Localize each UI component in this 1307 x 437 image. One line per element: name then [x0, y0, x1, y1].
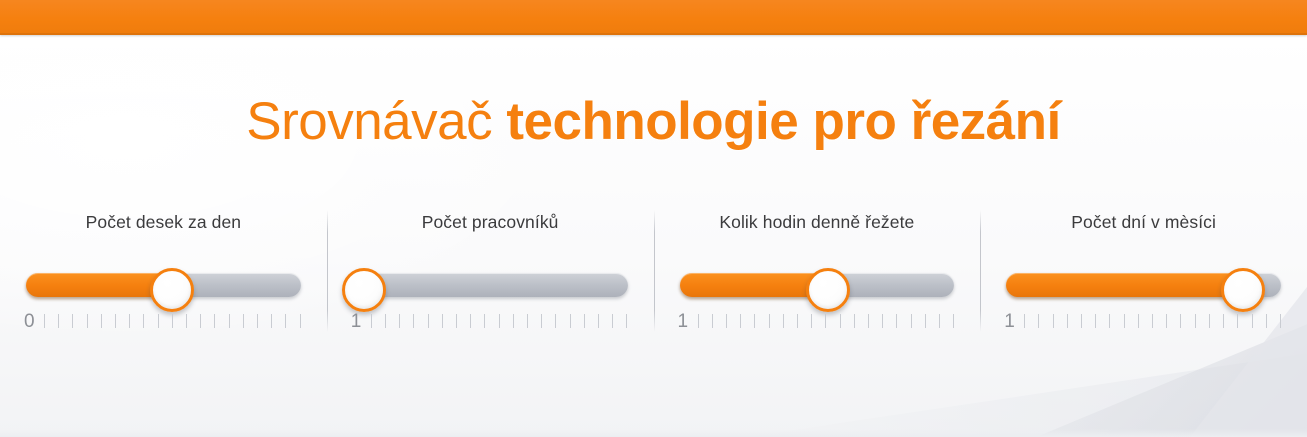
ruler-tick [1237, 314, 1238, 328]
slider-ruler: 0 [18, 311, 309, 337]
slider-thumb[interactable] [1221, 268, 1265, 312]
ruler-tick [626, 314, 627, 328]
ruler-tick [513, 314, 514, 328]
slider-track[interactable] [680, 273, 955, 297]
ruler-tick [129, 314, 130, 328]
ruler-tick [101, 314, 102, 328]
ruler-tick [257, 314, 258, 328]
slider-thumb[interactable] [150, 268, 194, 312]
slider-ruler: 1 [345, 311, 636, 337]
ruler-tick [555, 314, 556, 328]
ruler-tick [541, 314, 542, 328]
ruler-tick [1081, 314, 1082, 328]
ruler-tick [1280, 314, 1281, 328]
slider-cell-boards-per-day: Počet desek za den 0 [0, 196, 327, 346]
slider-group: Počet desek za den 0 Počet pracovníků [0, 196, 1307, 346]
ruler-tick [1109, 314, 1110, 328]
ruler-tick [456, 314, 457, 328]
ruler-tick [1180, 314, 1181, 328]
ruler-tick [840, 314, 841, 328]
ruler-tick [499, 314, 500, 328]
page-title-light: Srovnávač [246, 92, 506, 151]
ruler-tick [1152, 314, 1153, 328]
ruler-tick [172, 314, 173, 328]
slider-ticks [44, 314, 301, 330]
ruler-tick [243, 314, 244, 328]
ruler-tick [1067, 314, 1068, 328]
ruler-tick [72, 314, 73, 328]
slider-ruler: 1 [672, 311, 963, 337]
slider-track-fill [1006, 273, 1242, 297]
ruler-tick [882, 314, 883, 328]
ruler-tick [1223, 314, 1224, 328]
ruler-tick [271, 314, 272, 328]
ruler-tick [200, 314, 201, 328]
slider-track[interactable] [1006, 273, 1281, 297]
ruler-tick [115, 314, 116, 328]
ruler-tick [229, 314, 230, 328]
ruler-tick [953, 314, 954, 328]
top-orange-band [0, 0, 1307, 35]
ruler-tick [399, 314, 400, 328]
ruler-tick [158, 314, 159, 328]
ruler-tick [1053, 314, 1054, 328]
ruler-tick [939, 314, 940, 328]
background-bottom-edge [0, 429, 1307, 437]
ruler-tick [797, 314, 798, 328]
ruler-tick [754, 314, 755, 328]
ruler-tick [570, 314, 571, 328]
page-title: Srovnávač technologie pro řezání [0, 95, 1307, 148]
ruler-tick [285, 314, 286, 328]
slider-label-hours-per-day: Kolik hodin denně řežete [672, 196, 963, 233]
ruler-tick [740, 314, 741, 328]
ruler-tick [584, 314, 585, 328]
ruler-tick [1038, 314, 1039, 328]
ruler-tick [1095, 314, 1096, 328]
ruler-tick [1252, 314, 1253, 328]
ruler-tick [698, 314, 699, 328]
ruler-tick [911, 314, 912, 328]
slider-hours-per-day[interactable] [672, 267, 963, 301]
background-facet-wide [747, 342, 1307, 437]
ruler-tick [712, 314, 713, 328]
slider-days-per-month[interactable] [998, 267, 1289, 301]
ruler-tick [896, 314, 897, 328]
ruler-tick [87, 314, 88, 328]
slider-track[interactable] [26, 273, 301, 297]
slider-thumb[interactable] [342, 268, 386, 312]
ruler-tick [598, 314, 599, 328]
slider-ticks [371, 314, 628, 330]
ruler-tick [1124, 314, 1125, 328]
slider-workers[interactable] [345, 267, 636, 301]
ruler-tick [186, 314, 187, 328]
ruler-tick [214, 314, 215, 328]
ruler-tick [925, 314, 926, 328]
slider-ruler: 1 [998, 311, 1289, 337]
slider-ticks [1024, 314, 1281, 330]
ruler-tick [726, 314, 727, 328]
ruler-tick [300, 314, 301, 328]
slider-cell-days-per-month: Počet dní v mèsíci 1 [980, 196, 1307, 346]
comparator-page: Srovnávač technologie pro řezání Počet d… [0, 0, 1307, 437]
ruler-tick [413, 314, 414, 328]
slider-min-label: 1 [678, 311, 689, 333]
ruler-tick [428, 314, 429, 328]
ruler-tick [58, 314, 59, 328]
ruler-tick [527, 314, 528, 328]
page-title-bold: technologie pro řezání [506, 92, 1060, 151]
ruler-tick [470, 314, 471, 328]
slider-cell-workers: Počet pracovníků 1 [327, 196, 654, 346]
slider-boards-per-day[interactable] [18, 267, 309, 301]
slider-label-days-per-month: Počet dní v mèsíci [998, 196, 1289, 233]
ruler-tick [825, 314, 826, 328]
ruler-tick [1138, 314, 1139, 328]
ruler-tick [1024, 314, 1025, 328]
ruler-tick [769, 314, 770, 328]
slider-track[interactable] [353, 273, 628, 297]
slider-cell-hours-per-day: Kolik hodin denně řežete 1 [654, 196, 981, 346]
ruler-tick [811, 314, 812, 328]
ruler-tick [783, 314, 784, 328]
ruler-tick [1266, 314, 1267, 328]
ruler-tick [1209, 314, 1210, 328]
ruler-tick [1166, 314, 1167, 328]
ruler-tick [385, 314, 386, 328]
slider-thumb[interactable] [806, 268, 850, 312]
ruler-tick [868, 314, 869, 328]
ruler-tick [44, 314, 45, 328]
ruler-tick [1195, 314, 1196, 328]
ruler-tick [442, 314, 443, 328]
ruler-tick [371, 314, 372, 328]
slider-min-label: 1 [351, 311, 362, 333]
slider-label-boards-per-day: Počet desek za den [18, 196, 309, 233]
ruler-tick [854, 314, 855, 328]
slider-min-label: 1 [1004, 311, 1015, 333]
slider-label-workers: Počet pracovníků [345, 196, 636, 233]
ruler-tick [143, 314, 144, 328]
ruler-tick [612, 314, 613, 328]
slider-ticks [698, 314, 955, 330]
slider-min-label: 0 [24, 311, 35, 333]
ruler-tick [484, 314, 485, 328]
